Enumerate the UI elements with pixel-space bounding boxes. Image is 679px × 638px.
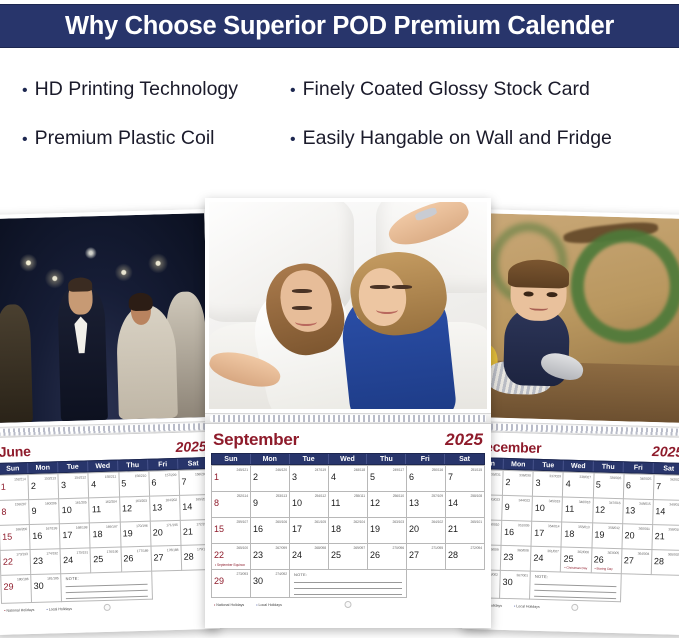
day-cell: 2153/213	[29, 474, 60, 500]
day-number: 5	[121, 478, 126, 488]
dow-thu: Thu	[118, 460, 148, 471]
day-of-year: 354/014	[548, 524, 560, 528]
day-cell: 20171/195	[151, 521, 182, 547]
day-number: 10	[62, 505, 72, 515]
day-of-year: 268/098	[314, 546, 326, 550]
dow-sat: Sat	[445, 454, 484, 464]
day-of-year: 348/015	[639, 502, 651, 506]
day-of-year: 262/104	[353, 520, 365, 524]
day-cell: 21265/101	[446, 518, 485, 544]
calendar-sheet-center: September 2025 Sun Mon Tue Wed Thu Fri S…	[205, 424, 491, 628]
day-cell: 22173/193	[1, 550, 32, 576]
day-number: 11	[331, 498, 340, 508]
dow-fri: Fri	[148, 459, 178, 470]
coil-icon	[210, 415, 486, 422]
note-write-line[interactable]	[66, 590, 147, 593]
day-of-year: 360/011	[639, 527, 650, 531]
day-number: 5	[370, 472, 375, 482]
day-of-year: 342/024	[670, 478, 679, 482]
day-number: 4	[331, 472, 336, 482]
day-of-year: 261/105	[314, 520, 326, 524]
day-of-year: 272/094	[470, 546, 482, 550]
day-cell: 7342/024	[654, 475, 679, 501]
day-cell: 30181/185	[31, 574, 62, 603]
day-cell: 4338/027	[563, 473, 594, 499]
day-number: 23	[253, 550, 263, 560]
day-cell: 13348/015	[623, 499, 654, 525]
day-cell: 11162/204	[90, 498, 121, 524]
day-number: 3	[535, 478, 540, 488]
day-cell: 12347/016	[593, 498, 624, 524]
day-number: 1	[1, 482, 6, 492]
note-label: NOTE:	[66, 574, 148, 581]
day-of-year: 255/111	[354, 494, 365, 498]
dow-sat: Sat	[178, 458, 208, 469]
feature-label: HD Printing Technology	[35, 78, 238, 101]
day-of-year: 175/191	[76, 550, 88, 554]
day-number: 18	[331, 524, 341, 534]
day-number: 7	[181, 477, 186, 487]
day-cell: 20360/011	[622, 524, 653, 550]
bullet-icon: •	[22, 83, 28, 99]
note-area[interactable]: NOTE:	[290, 570, 407, 598]
day-number: 22	[214, 550, 224, 560]
day-of-year: 160/206	[45, 501, 57, 505]
feature-item-4: • Easily Hangable on Wall and Fridge	[290, 127, 672, 150]
day-number: 4	[91, 479, 96, 489]
bullet-icon: •	[290, 132, 296, 148]
day-of-year: 258/108	[470, 494, 482, 498]
day-cell: 3337/029	[533, 472, 564, 498]
day-cell: 5339/026	[593, 473, 624, 499]
day-of-year: 265/101	[470, 520, 482, 524]
day-cell: 29180/186	[1, 575, 32, 604]
day-cell: 12163/203	[120, 497, 151, 523]
day-cell: 6157/209	[149, 471, 180, 497]
calendar-right: December 2025 Sun Mon Tue Wed Thu Fri Sa…	[462, 209, 679, 635]
day-cell: 14349/011	[653, 500, 679, 526]
day-of-year: 245/121	[236, 468, 248, 472]
day-cell: 25176/190	[91, 548, 122, 574]
wedding-sparkler-artwork	[0, 213, 210, 423]
day-number: 24	[533, 553, 543, 563]
day-cell: 9344/022	[502, 496, 533, 522]
day-of-year: 254/112	[315, 494, 326, 498]
feature-item-2: • Finely Coated Glossy Stock Card	[290, 78, 672, 101]
day-cell: 30367/001	[500, 571, 531, 600]
day-number: 2	[253, 472, 258, 482]
day-of-year: 181/185	[47, 576, 59, 580]
toddler-smile	[529, 304, 549, 311]
toddler-eye-right	[547, 292, 558, 297]
day-of-year: 157/209	[165, 473, 177, 477]
note-label: NOTE:	[294, 572, 402, 577]
day-cell: 26363/005• Boxing Day	[591, 548, 622, 574]
day-of-year: 253/113	[276, 494, 287, 498]
day-number: 18	[92, 529, 102, 539]
day-number: 13	[152, 502, 162, 512]
day-cell: 11255/111	[329, 492, 368, 518]
day-cell: 8159/207	[0, 500, 30, 526]
header-banner: Why Choose Superior POD Premium Calender	[0, 4, 679, 48]
day-cell: 23360/008	[501, 546, 532, 572]
dow-thu: Thu	[594, 461, 624, 472]
legend-text: National Holidays	[216, 603, 244, 607]
calendar-footer-center: • National Holidays • Local Holidays	[211, 598, 485, 610]
legend-text: Local Holidays	[49, 607, 72, 612]
day-number: 12	[370, 498, 380, 508]
day-number: 28	[183, 551, 193, 561]
note-write-line[interactable]	[535, 584, 616, 587]
day-of-year: 267/099	[275, 546, 287, 550]
day-cell: 3247/119	[290, 466, 329, 492]
dow-fri: Fri	[406, 454, 445, 464]
day-of-year: 156/210	[135, 474, 147, 478]
day-of-year: 256/110	[393, 494, 404, 498]
day-of-year: 264/102	[431, 520, 443, 524]
day-number: 9	[31, 506, 36, 516]
day-of-year: 349/011	[669, 503, 679, 507]
day-of-year: 249/117	[393, 468, 404, 472]
day-number: 5	[596, 479, 601, 489]
bride-hair	[129, 292, 153, 311]
day-cell: 8252/114	[212, 492, 251, 518]
year-label: 2025	[175, 438, 207, 455]
day-of-year: 180/186	[17, 577, 29, 581]
day-cell: 22265/100• September Equinox	[212, 544, 251, 570]
day-number: 8	[214, 498, 219, 508]
day-of-year: 347/016	[609, 501, 621, 505]
day-number: 23	[33, 556, 43, 566]
day-number: 30	[503, 577, 513, 587]
page-title: Why Choose Superior POD Premium Calender	[65, 12, 614, 41]
day-cell: 13257/109	[407, 492, 446, 518]
day-number: 27	[409, 550, 419, 560]
day-cell: 9253/113	[251, 492, 290, 518]
day-number: 6	[409, 472, 414, 482]
legend-marker: •	[514, 604, 515, 608]
day-cell: 10161/205	[59, 498, 90, 524]
dow-mon: Mon	[251, 454, 290, 464]
day-number: 29	[3, 582, 13, 592]
day-number: 26	[123, 553, 133, 563]
legend-text: Local Holidays	[259, 603, 282, 607]
day-of-year: 345/019	[549, 499, 561, 503]
woman-left-eye	[292, 289, 311, 293]
day-number: 19	[370, 524, 380, 534]
day-number: 16	[32, 531, 42, 541]
day-number: 14	[448, 498, 458, 508]
day-of-year: 166/200	[15, 527, 27, 531]
legend-marker: •	[256, 603, 257, 607]
day-number: 6	[626, 480, 631, 490]
day-of-year: 362/006	[577, 550, 589, 554]
note-write-line[interactable]	[66, 584, 147, 587]
day-of-year: 246/120	[275, 468, 287, 472]
day-cell: 27178/188	[151, 546, 182, 572]
day-number: 8	[1, 507, 6, 517]
month-label: June	[0, 443, 31, 460]
day-cell: 15259/107	[212, 518, 251, 544]
month-label: September	[213, 430, 299, 450]
day-of-year: 153/213	[44, 476, 56, 480]
groom-hair	[68, 277, 92, 292]
two-women-artwork	[209, 202, 487, 409]
day-of-year: 177/189	[137, 549, 149, 553]
day-of-year: 367/001	[516, 573, 528, 577]
day-cell: 18169/197	[90, 523, 121, 549]
day-of-year: 364/004	[638, 552, 650, 556]
day-number: 16	[253, 524, 263, 534]
day-number: 18	[564, 529, 574, 539]
note-area[interactable]: NOTE:	[62, 572, 153, 603]
day-of-year: 162/204	[105, 500, 117, 504]
day-number: 19	[594, 529, 604, 539]
day-of-year: 164/202	[165, 498, 177, 502]
legend-national: • National Holidays	[214, 603, 244, 607]
day-of-year: 351/009	[518, 523, 530, 527]
dow-wed: Wed	[564, 461, 594, 472]
day-number: 9	[505, 502, 510, 512]
day-number: 20	[153, 527, 163, 537]
day-cell: 26177/189	[121, 547, 152, 573]
day-cell: 28365/003	[652, 550, 679, 576]
legend-national: • National Holidays	[4, 608, 34, 613]
calendar-sheet-right: December 2025 Sun Mon Tue Wed Thu Fri Sa…	[462, 432, 679, 635]
day-of-year: 338/027	[579, 475, 591, 479]
day-of-year: 169/197	[106, 525, 118, 529]
day-of-year: 265/100	[236, 546, 248, 550]
day-cell: 27364/004	[621, 549, 652, 575]
note-write-line[interactable]	[294, 582, 402, 583]
day-cell: 4155/211	[89, 473, 120, 499]
day-number: 26	[594, 554, 604, 564]
day-number: 2	[31, 481, 36, 491]
toddler-eye-left	[523, 291, 534, 296]
day-cell: 2336/030	[503, 471, 534, 497]
calendar-left: June 2025 Sun Mon Tue Wed Thu Fri Sat 11…	[0, 209, 220, 635]
toddler-with-wreath-photo	[468, 209, 679, 427]
day-number: 9	[253, 498, 258, 508]
day-of-year: 344/022	[518, 498, 530, 502]
day-cell: 2246/120	[251, 466, 290, 492]
day-cell: 5249/117	[368, 466, 407, 492]
day-cell: 17261/105	[290, 518, 329, 544]
day-number: 12	[122, 503, 132, 513]
day-cell: 11346/018	[563, 498, 594, 524]
day-cell: 29273/093	[212, 570, 251, 598]
day-number: 20	[624, 530, 634, 540]
day-number: 29	[214, 576, 224, 586]
day-of-year: 171/195	[166, 523, 178, 527]
day-number: 17	[534, 528, 544, 538]
day-cell: 23174/192	[31, 549, 62, 575]
day-of-week-row-center: Sun Mon Tue Wed Thu Fri Sat	[211, 453, 485, 465]
day-of-year: 269/097	[353, 546, 365, 550]
day-cell: 24361/007	[531, 547, 562, 573]
day-number: 25	[93, 554, 103, 564]
dow-tue: Tue	[534, 460, 564, 471]
day-number: 10	[292, 498, 302, 508]
day-cell: 19356/012	[592, 523, 623, 549]
day-cell: 17168/198	[60, 523, 91, 549]
woman-right-smile	[376, 306, 398, 314]
day-number: 10	[535, 503, 545, 513]
day-of-year: 173/193	[16, 552, 28, 556]
feature-label: Easily Hangable on Wall and Fridge	[303, 127, 612, 150]
day-of-year: 260/106	[275, 520, 287, 524]
legend-text: Local Holidays	[516, 604, 539, 609]
day-number: 6	[151, 478, 156, 488]
day-number: 16	[504, 527, 514, 537]
legend-marker: •	[46, 608, 47, 612]
wreath-icon	[569, 228, 679, 345]
day-of-year: 339/026	[610, 476, 622, 480]
day-of-year: 257/109	[431, 494, 443, 498]
day-of-year: 251/115	[471, 468, 482, 472]
calendar-sheet-left: June 2025 Sun Mon Tue Wed Thu Fri Sat 11…	[0, 432, 220, 635]
day-cell: 20264/102	[407, 518, 446, 544]
note-write-line[interactable]	[66, 596, 147, 599]
day-cell: 1245/121	[212, 466, 251, 492]
day-number: 7	[656, 481, 661, 491]
day-cell: 4248/118	[329, 466, 368, 492]
day-of-year: 346/018	[579, 500, 591, 504]
note-write-line[interactable]	[534, 596, 615, 599]
note-write-line[interactable]	[535, 590, 616, 593]
day-of-year: 152/214	[14, 477, 26, 481]
day-number: 26	[370, 550, 380, 560]
day-number: 22	[3, 557, 13, 567]
day-cell: 15166/200	[0, 525, 31, 551]
day-number: 21	[183, 527, 193, 537]
day-cell: 19263/103	[368, 518, 407, 544]
day-number: 4	[566, 479, 571, 489]
day-cell: 16260/106	[251, 518, 290, 544]
day-of-year: 337/029	[549, 474, 561, 478]
feature-label: Premium Plastic Coil	[35, 127, 215, 150]
legend-local: • Local Holidays	[514, 604, 540, 609]
day-number: 30	[34, 581, 44, 591]
day-number: 13	[625, 505, 635, 515]
day-cell: 28272/094	[446, 544, 485, 570]
day-cell: 12256/110	[368, 492, 407, 518]
day-cell: 6340/025	[624, 474, 655, 500]
holiday-event-label: • Boxing Day	[594, 566, 612, 571]
dow-sun: Sun	[0, 463, 28, 474]
note-label: NOTE:	[535, 574, 617, 581]
calendar-center: September 2025 Sun Mon Tue Wed Thu Fri S…	[205, 198, 491, 628]
day-cell: 21358/010	[652, 525, 679, 551]
calendar-grid-center: 1245/1212246/1203247/1194248/1185249/117…	[211, 465, 485, 598]
note-write-line[interactable]	[294, 588, 402, 589]
feature-label: Finely Coated Glossy Stock Card	[303, 78, 590, 101]
dow-sun: Sun	[212, 454, 251, 464]
day-of-year: 356/012	[608, 526, 620, 530]
wedding-sparkler-photo	[0, 209, 214, 427]
day-number: 13	[409, 498, 419, 508]
day-of-year: 273/093	[236, 572, 248, 576]
day-number: 24	[63, 555, 73, 565]
day-of-year: 170/196	[136, 524, 148, 528]
year-label: 2025	[652, 443, 679, 460]
day-cell: 3154/212	[59, 473, 90, 499]
dow-mon: Mon	[504, 459, 534, 470]
day-cell: 18355/013	[562, 523, 593, 549]
two-women-on-bed-photo	[205, 198, 491, 413]
year-label: 2025	[445, 430, 483, 450]
day-number: 27	[153, 552, 163, 562]
day-of-year: 159/207	[15, 502, 27, 506]
day-of-year: 161/205	[75, 500, 87, 504]
day-cell: 25269/097	[329, 544, 368, 570]
dow-thu: Thu	[367, 454, 406, 464]
note-write-line[interactable]	[294, 594, 402, 595]
day-of-year: 365/003	[668, 553, 679, 557]
day-cell: 14258/108	[446, 492, 485, 518]
dow-tue: Tue	[290, 454, 329, 464]
note-area[interactable]: NOTE:	[530, 572, 621, 603]
day-number: 27	[624, 555, 634, 565]
day-number: 25	[563, 554, 573, 564]
day-of-year: 336/030	[519, 473, 531, 477]
calendar-grid-left: 1152/2142153/2133154/2124155/2115156/210…	[0, 469, 213, 604]
dow-sat: Sat	[654, 463, 679, 474]
bullet-icon: •	[22, 132, 28, 148]
day-cell: 25362/006• Christmas Day	[561, 548, 592, 574]
day-number: 17	[62, 530, 72, 540]
day-number: 21	[448, 524, 458, 534]
hole-punch-icon	[104, 604, 111, 611]
day-number: 23	[503, 552, 513, 562]
day-cell: 10345/019	[532, 497, 563, 523]
day-of-year: 274/092	[275, 572, 287, 576]
day-number: 30	[253, 576, 263, 586]
feature-item-3: • Premium Plastic Coil	[22, 127, 290, 150]
day-number: 11	[565, 504, 575, 514]
day-number: 25	[331, 550, 341, 560]
holiday-event-label: • Christmas Day	[564, 566, 587, 571]
day-number: 19	[123, 528, 133, 538]
day-number: 15	[214, 524, 224, 534]
dow-mon: Mon	[28, 462, 58, 473]
day-of-year: 358/010	[668, 528, 679, 532]
day-of-year: 154/212	[74, 475, 86, 479]
day-cell: 10254/112	[290, 492, 329, 518]
day-cell: 30274/092	[251, 570, 290, 598]
day-of-year: 270/096	[392, 546, 404, 550]
day-of-year: 247/119	[315, 468, 326, 472]
feature-item-1: • HD Printing Technology	[22, 78, 290, 101]
day-of-year: 176/190	[107, 550, 119, 554]
day-cell: 27271/095	[407, 544, 446, 570]
dow-fri: Fri	[624, 462, 654, 473]
day-number: 28	[448, 550, 458, 560]
woman-left-eye-2	[292, 306, 311, 310]
day-of-year: 174/192	[46, 551, 58, 555]
day-cell: 5156/210	[119, 472, 150, 498]
day-number: 15	[2, 532, 12, 542]
day-of-year: 259/107	[236, 520, 248, 524]
calendar-showcase: June 2025 Sun Mon Tue Wed Thu Fri Sat 11…	[0, 190, 679, 638]
day-cell: 6250/116	[407, 466, 446, 492]
day-of-year: 155/211	[105, 475, 116, 479]
hole-punch-icon	[345, 601, 352, 608]
day-cell: 7251/115	[446, 466, 485, 492]
day-of-year: 178/188	[167, 548, 179, 552]
day-of-year: 168/198	[76, 525, 88, 529]
day-number: 3	[292, 472, 297, 482]
